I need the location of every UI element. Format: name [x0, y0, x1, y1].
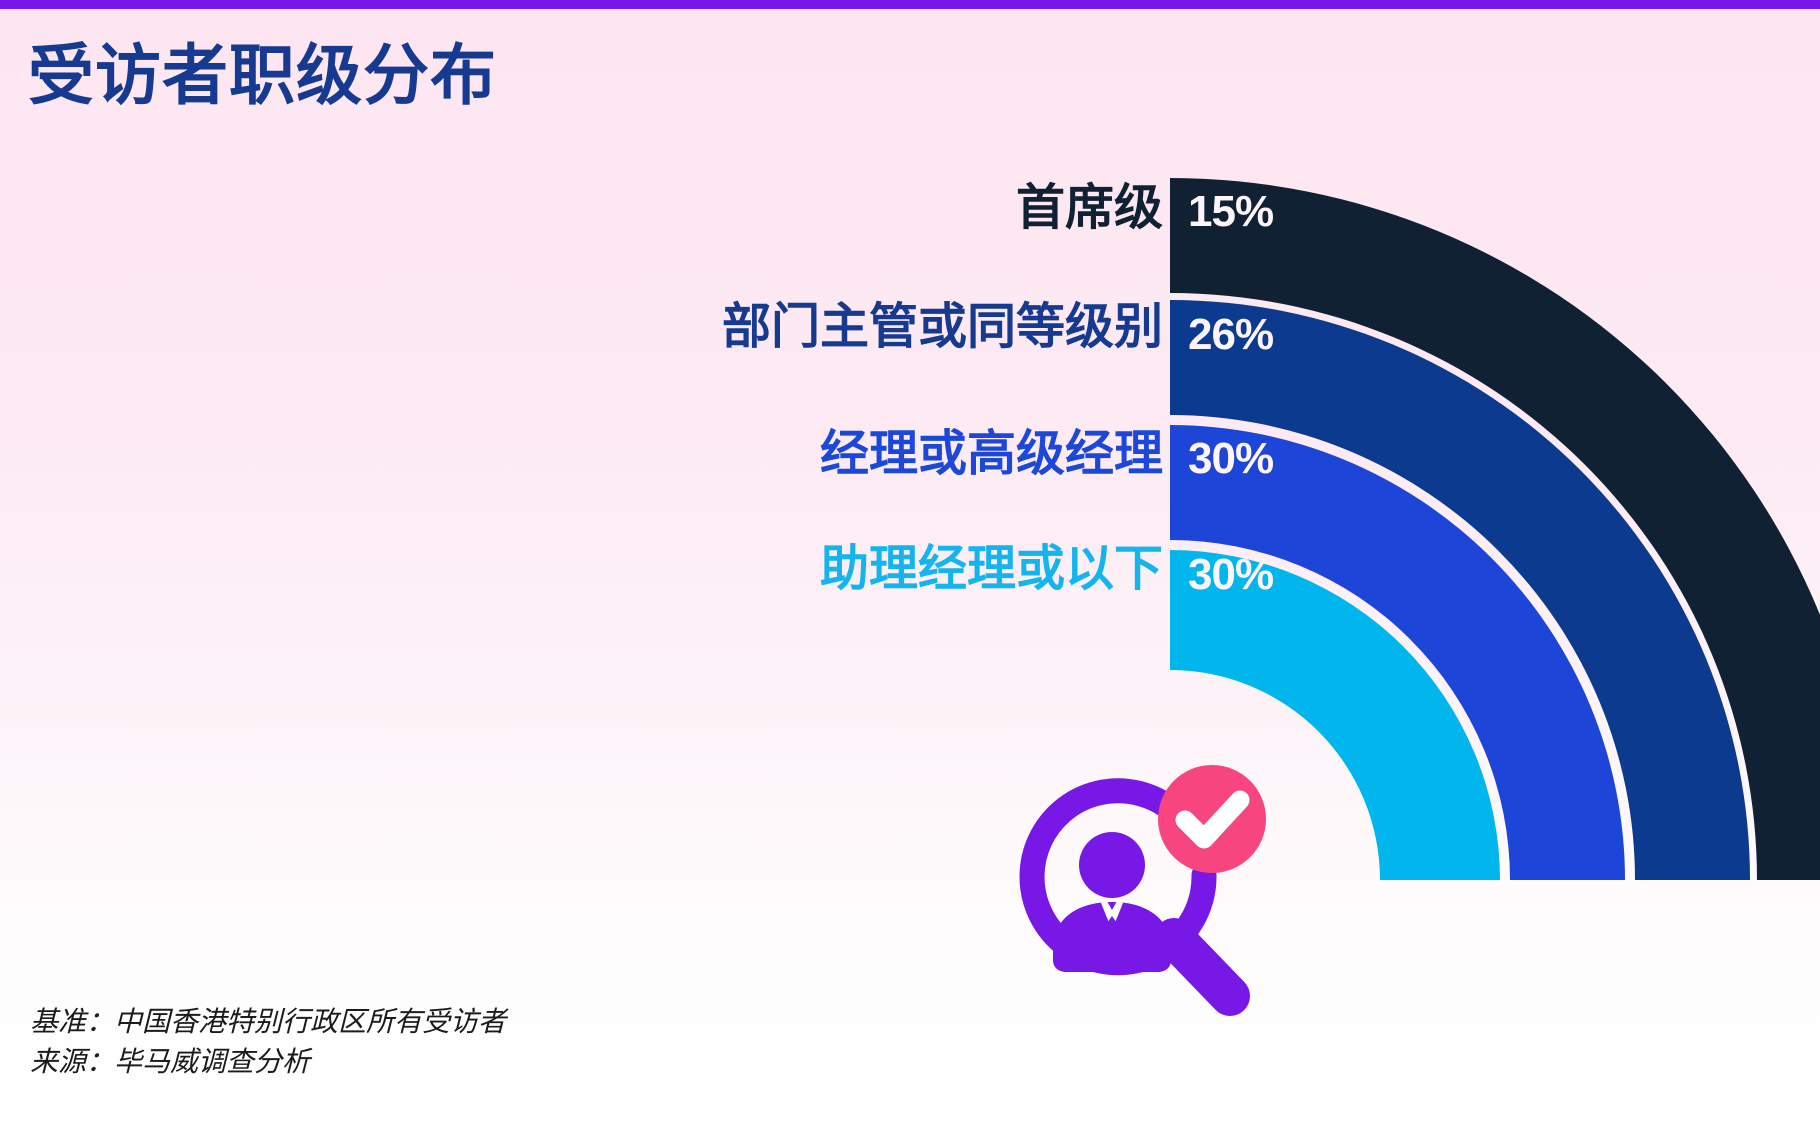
- value-label-manager: 30%: [1188, 437, 1273, 481]
- category-label-manager: 经理或高级经理: [820, 430, 1163, 479]
- value-label-chief-level: 15%: [1188, 190, 1273, 234]
- magnifier-handle-icon: [1174, 938, 1230, 996]
- radial-bar-chart: 首席级 部门主管或同等级别 经理或高级经理 助理经理或以下 15% 26% 30…: [0, 0, 1820, 1123]
- footer-base-line: 基准：中国香港特别行政区所有受访者: [30, 1002, 506, 1043]
- person-search-verified-icon: [1008, 760, 1288, 1050]
- footer-notes: 基准：中国香港特别行政区所有受访者 来源：毕马威调查分析: [30, 1002, 506, 1083]
- value-label-head-of-department: 26%: [1188, 313, 1273, 357]
- category-label-chief-level: 首席级: [1016, 184, 1163, 233]
- footer-source-line: 来源：毕马威调查分析: [30, 1042, 506, 1083]
- value-label-assistant-manager: 30%: [1188, 553, 1273, 597]
- icon-svg: [1008, 760, 1288, 1050]
- category-label-assistant-manager: 助理经理或以下: [820, 545, 1163, 594]
- infographic-slide: 受访者职级分布 首席级 部门主管或同等级别 经理或高级经理 助理经理或以下 15…: [0, 0, 1820, 1123]
- category-label-head-of-department: 部门主管或同等级别: [722, 303, 1163, 352]
- person-head-icon: [1079, 832, 1145, 898]
